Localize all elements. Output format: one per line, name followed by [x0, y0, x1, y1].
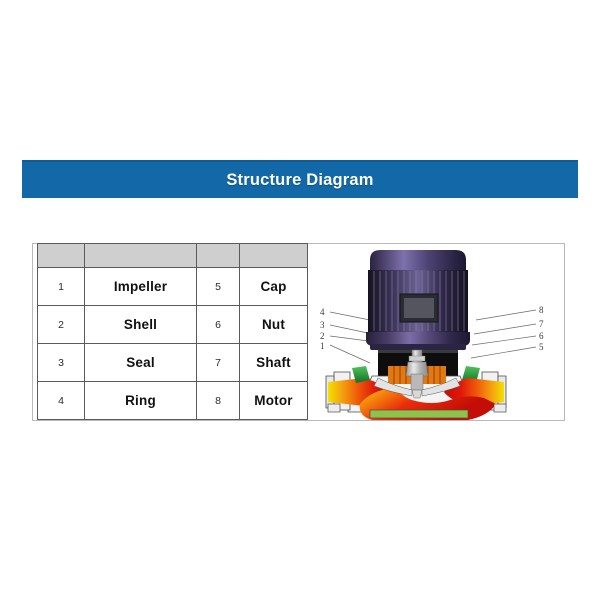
callout-label-2: 2 [320, 331, 325, 341]
part-name: Nut [240, 306, 308, 344]
callout-label-6: 6 [539, 331, 544, 341]
motor-lower-flange [366, 332, 470, 346]
callout-label-3: 3 [320, 320, 325, 330]
part-name: Motor [240, 382, 308, 420]
callout-label-8: 8 [539, 305, 544, 315]
callout-labels-left: 4 3 2 1 [320, 307, 325, 351]
callout-leader-lines-right [471, 310, 536, 358]
part-name: Ring [85, 382, 197, 420]
part-number: 2 [38, 306, 85, 344]
support-foot-right [494, 404, 506, 412]
part-name: Shaft [240, 344, 308, 382]
motor-base-ring [370, 344, 466, 350]
table-header-cell-num-left [38, 244, 85, 268]
impeller-nut [412, 390, 422, 398]
header-banner: Structure Diagram [22, 160, 578, 198]
page-title: Structure Diagram [226, 171, 373, 190]
support-foot-left [328, 404, 340, 412]
table-header-cell-num-right [197, 244, 240, 268]
part-name: Seal [85, 344, 197, 382]
table-header-row [38, 244, 308, 268]
part-name: Shell [85, 306, 197, 344]
part-number: 4 [38, 382, 85, 420]
callout-label-5: 5 [539, 342, 544, 352]
table-header-cell-name-right [240, 244, 308, 268]
part-number: 7 [197, 344, 240, 382]
pump-cutaway-illustration: 4 3 2 1 8 7 6 5 [308, 244, 564, 420]
pump-diagram: 4 3 2 1 8 7 6 5 [308, 244, 564, 420]
callout-labels-right: 8 7 6 5 [539, 305, 544, 352]
part-number: 8 [197, 382, 240, 420]
part-number: 5 [197, 268, 240, 306]
part-number: 3 [38, 344, 85, 382]
part-name: Cap [240, 268, 308, 306]
motor-top-cap [370, 250, 466, 270]
motor-terminal-box-lid [404, 298, 434, 318]
part-number: 6 [197, 306, 240, 344]
table-row: 4 Ring 8 Motor [38, 382, 308, 420]
part-name: Impeller [85, 268, 197, 306]
base-plate [370, 410, 468, 418]
shaft-sleeve [411, 374, 423, 390]
table-row: 2 Shell 6 Nut [38, 306, 308, 344]
table-row: 1 Impeller 5 Cap [38, 268, 308, 306]
parts-table: 1 Impeller 5 Cap 2 Shell 6 Nut 3 Seal 7 … [37, 243, 308, 420]
shaft-coupling [409, 356, 425, 361]
part-number: 1 [38, 268, 85, 306]
callout-label-1: 1 [320, 341, 325, 351]
callout-label-7: 7 [539, 319, 544, 329]
table-row: 3 Seal 7 Shaft [38, 344, 308, 382]
callout-label-4: 4 [320, 307, 325, 317]
table-header-cell-name-left [85, 244, 197, 268]
